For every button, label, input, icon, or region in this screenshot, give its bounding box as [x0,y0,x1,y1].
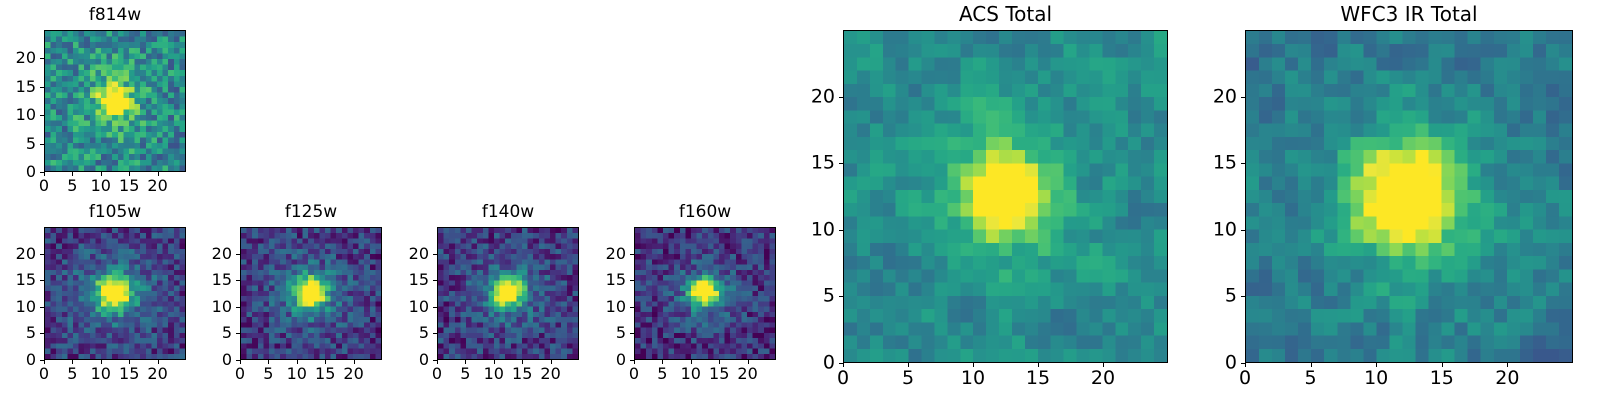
ytick-mark-f105w-15 [40,280,44,281]
ytick-label-wfc3-ir-total-20: 20 [1185,87,1237,106]
panel-title-f814w: f814w [44,7,186,24]
ytick-mark-f160w-10 [630,307,634,308]
ytick-mark-f160w-20 [630,254,634,255]
ytick-label-wfc3-ir-total-0: 0 [1185,354,1237,373]
heatmap-canvas-f105w [45,228,185,359]
ytick-mark-f814w-10 [40,115,44,116]
ytick-label-f105w-0: 0 [0,352,36,368]
xtick-label-f105w-5: 5 [67,366,77,382]
xtick-label-acs-total-20: 20 [1091,369,1115,388]
xtick-label-f105w-0: 0 [39,366,49,382]
ytick-mark-f160w-0 [630,360,634,361]
ytick-label-f160w-0: 0 [574,352,626,368]
ytick-label-f105w-15: 15 [0,272,36,288]
ytick-label-f125w-15: 15 [180,272,232,288]
ytick-mark-f140w-20 [433,254,437,255]
panel-title-f105w: f105w [44,204,186,221]
ytick-label-f140w-20: 20 [377,246,429,262]
ytick-mark-f140w-10 [433,307,437,308]
xtick-label-f125w-5: 5 [263,366,273,382]
xtick-label-f160w-10: 10 [681,366,701,382]
heatmap-canvas-f125w [241,228,381,359]
ytick-label-f814w-15: 15 [0,79,36,95]
panel-title-acs-total: ACS Total [843,4,1168,24]
ytick-label-acs-total-5: 5 [783,287,835,306]
ytick-mark-f105w-20 [40,254,44,255]
ytick-label-acs-total-20: 20 [783,87,835,106]
xtick-label-f140w-15: 15 [512,366,532,382]
ytick-label-acs-total-10: 10 [783,220,835,239]
ytick-mark-f160w-5 [630,333,634,334]
ytick-mark-wfc3-ir-total-0 [1241,363,1245,364]
xtick-label-f125w-15: 15 [315,366,335,382]
ytick-mark-f105w-0 [40,360,44,361]
ytick-mark-f125w-0 [236,360,240,361]
ytick-label-f125w-0: 0 [180,352,232,368]
ytick-mark-f105w-10 [40,307,44,308]
xtick-label-f814w-5: 5 [67,178,77,194]
heatmap-canvas-acs-total [844,31,1167,362]
xtick-label-f125w-0: 0 [235,366,245,382]
xtick-label-f125w-10: 10 [287,366,307,382]
xtick-label-f160w-20: 20 [737,366,757,382]
ytick-mark-wfc3-ir-total-15 [1241,163,1245,164]
ytick-label-f140w-10: 10 [377,299,429,315]
ytick-mark-f140w-5 [433,333,437,334]
ytick-label-f814w-10: 10 [0,107,36,123]
ytick-mark-f140w-0 [433,360,437,361]
xtick-label-f140w-0: 0 [432,366,442,382]
heatmap-acs-total [843,30,1168,363]
ytick-mark-f814w-5 [40,144,44,145]
ytick-mark-f814w-15 [40,87,44,88]
xtick-label-f160w-0: 0 [629,366,639,382]
xtick-label-f814w-0: 0 [39,178,49,194]
heatmap-canvas-f160w [635,228,775,359]
ytick-label-f125w-20: 20 [180,246,232,262]
ytick-mark-wfc3-ir-total-5 [1241,296,1245,297]
xtick-label-f125w-20: 20 [343,366,363,382]
xtick-label-acs-total-5: 5 [902,369,914,388]
ytick-label-f160w-5: 5 [574,325,626,341]
heatmap-f105w [44,227,186,360]
ytick-label-f160w-10: 10 [574,299,626,315]
ytick-label-acs-total-15: 15 [783,154,835,173]
ytick-label-f105w-20: 20 [0,246,36,262]
ytick-mark-f125w-5 [236,333,240,334]
xtick-label-f140w-20: 20 [540,366,560,382]
panel-title-wfc3-ir-total: WFC3 IR Total [1245,4,1573,24]
ytick-label-f160w-20: 20 [574,246,626,262]
xtick-label-f814w-20: 20 [147,178,167,194]
ytick-label-acs-total-0: 0 [783,354,835,373]
ytick-mark-f140w-15 [433,280,437,281]
xtick-label-wfc3-ir-total-15: 15 [1430,369,1454,388]
ytick-mark-f105w-5 [40,333,44,334]
heatmap-canvas-f814w [45,31,185,171]
ytick-label-wfc3-ir-total-10: 10 [1185,220,1237,239]
ytick-mark-wfc3-ir-total-10 [1241,230,1245,231]
ytick-label-wfc3-ir-total-15: 15 [1185,154,1237,173]
xtick-label-f160w-15: 15 [709,366,729,382]
ytick-label-f105w-10: 10 [0,299,36,315]
ytick-label-f814w-0: 0 [0,164,36,180]
ytick-label-f140w-5: 5 [377,325,429,341]
xtick-label-wfc3-ir-total-0: 0 [1239,369,1251,388]
xtick-label-acs-total-10: 10 [961,369,985,388]
xtick-label-f140w-5: 5 [460,366,470,382]
ytick-mark-acs-total-5 [839,296,843,297]
xtick-label-wfc3-ir-total-5: 5 [1305,369,1317,388]
heatmap-f814w [44,30,186,172]
heatmap-canvas-f140w [438,228,578,359]
heatmap-wfc3-ir-total [1245,30,1573,363]
ytick-label-f814w-20: 20 [0,50,36,66]
heatmap-f140w [437,227,579,360]
ytick-mark-acs-total-15 [839,163,843,164]
xtick-label-f105w-15: 15 [119,366,139,382]
ytick-label-f140w-15: 15 [377,272,429,288]
xtick-label-wfc3-ir-total-10: 10 [1364,369,1388,388]
ytick-label-wfc3-ir-total-5: 5 [1185,287,1237,306]
xtick-label-f160w-5: 5 [657,366,667,382]
ytick-mark-acs-total-20 [839,97,843,98]
xtick-label-acs-total-0: 0 [837,369,849,388]
ytick-label-f105w-5: 5 [0,325,36,341]
xtick-label-f814w-10: 10 [91,178,111,194]
xtick-label-f814w-15: 15 [119,178,139,194]
ytick-mark-f125w-10 [236,307,240,308]
xtick-label-f105w-10: 10 [91,366,111,382]
panel-title-f140w: f140w [437,204,579,221]
ytick-label-f125w-5: 5 [180,325,232,341]
ytick-label-f814w-5: 5 [0,136,36,152]
xtick-label-wfc3-ir-total-20: 20 [1495,369,1519,388]
panel-title-f125w: f125w [240,204,382,221]
ytick-mark-f160w-15 [630,280,634,281]
ytick-mark-f814w-0 [40,172,44,173]
ytick-mark-f125w-15 [236,280,240,281]
xtick-label-acs-total-15: 15 [1026,369,1050,388]
panel-title-f160w: f160w [634,204,776,221]
ytick-mark-wfc3-ir-total-20 [1241,97,1245,98]
ytick-mark-acs-total-0 [839,363,843,364]
xtick-label-f105w-20: 20 [147,366,167,382]
ytick-label-f125w-10: 10 [180,299,232,315]
figure-canvas: f814w0510152005101520f105w05101520051015… [0,0,1600,400]
ytick-mark-acs-total-10 [839,230,843,231]
ytick-label-f140w-0: 0 [377,352,429,368]
heatmap-f125w [240,227,382,360]
heatmap-f160w [634,227,776,360]
xtick-label-f140w-10: 10 [484,366,504,382]
heatmap-canvas-wfc3-ir-total [1246,31,1572,362]
ytick-mark-f125w-20 [236,254,240,255]
ytick-label-f160w-15: 15 [574,272,626,288]
ytick-mark-f814w-20 [40,58,44,59]
